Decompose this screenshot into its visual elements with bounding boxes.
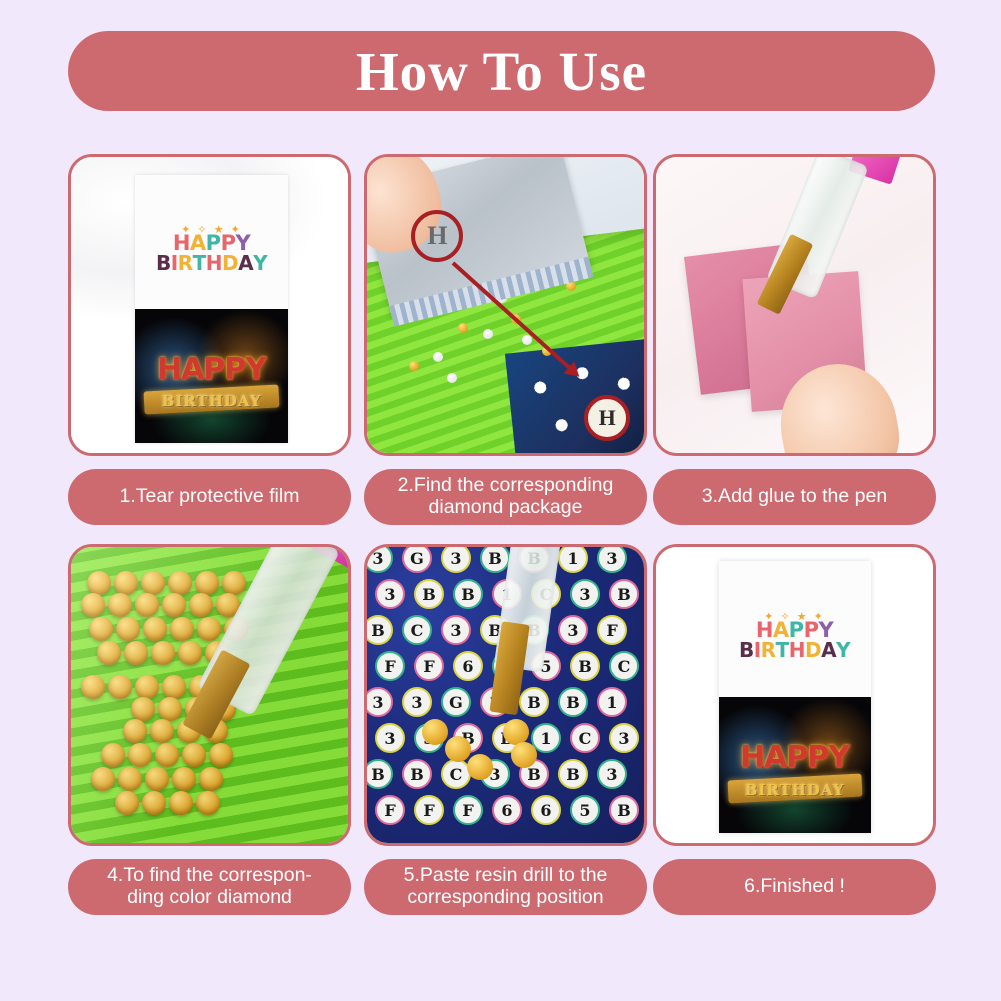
photo-tear-protective-film: ✦ ✧ ★ ✦ HAPPY BIRTHDAY HAPPY BIRTHDA [71, 157, 348, 453]
step-6-caption: 6.Finished ! [653, 859, 936, 915]
step-5-caption: 5.Paste resin drill to the corresponding… [364, 859, 647, 915]
canvas-symbol-cell: 1 [597, 687, 627, 717]
finished-greeting-card: ✦ ✧ ★ ✦ HAPPY BIRTHDAY HAPPY BIRTHDA [719, 561, 871, 833]
gold-drill-bead [178, 641, 202, 665]
gold-drill-bead [212, 697, 236, 721]
canvas-symbol-cell: C [570, 723, 600, 753]
gold-drill-bead [142, 791, 166, 815]
canvas-symbol-cell: F [453, 795, 483, 825]
confetti-icon: ✦ ✧ ★ ✦ [156, 223, 267, 236]
gold-drill-bead [135, 593, 159, 617]
canvas-symbol-cell: B [570, 651, 600, 681]
bead-artwork: HAPPY BIRTHDAY [719, 697, 871, 833]
gold-drill-bead [162, 593, 186, 617]
step-3-photo-frame [653, 154, 936, 456]
canvas-symbol-cell: 3 [367, 547, 393, 573]
gold-drill-bead [216, 593, 240, 617]
greeting-card-with-film: ✦ ✧ ★ ✦ HAPPY BIRTHDAY HAPPY BIRTHDA [135, 175, 288, 443]
canvas-symbol-cell: G [402, 547, 432, 573]
card-top-white: ✦ ✧ ★ ✦ HAPPY BIRTHDAY [719, 561, 871, 697]
gold-drill-bead [116, 617, 140, 641]
gold-drill-bead [189, 675, 213, 699]
card-bottom-diamond-art: HAPPY BIRTHDAY [719, 697, 871, 833]
step-6-photo-frame: ✦ ✧ ★ ✦ HAPPY BIRTHDAY HAPPY BIRTHDA [653, 544, 936, 846]
step-1: ✦ ✧ ★ ✦ HAPPY BIRTHDAY HAPPY BIRTHDA [68, 154, 351, 525]
gold-drill-bead [204, 719, 228, 743]
gold-drill-bead [222, 571, 246, 595]
symbol-canvas [505, 339, 644, 453]
gold-drill-bead [101, 743, 125, 767]
canvas-symbol-cell: B [453, 579, 483, 609]
bead-artwork: HAPPY BIRTHDAY [135, 309, 288, 443]
step-2-caption: 2.Find the corresponding diamond package [364, 469, 647, 525]
gold-drill-bead [224, 617, 248, 641]
canvas-symbol-cell: F [414, 651, 444, 681]
step-4: 4.To find the correspon- ding color diam… [68, 544, 351, 915]
art-happy-text: HAPPY [719, 743, 871, 773]
gold-drill-bead [145, 767, 169, 791]
canvas-symbol-cell: 3 [597, 547, 627, 573]
canvas-symbol-cell: B [414, 579, 444, 609]
placed-drill [422, 719, 448, 745]
gold-drill-bead [81, 675, 105, 699]
step-4-caption: 4.To find the correspon- ding color diam… [68, 859, 351, 915]
canvas-symbol-cell: G [441, 687, 471, 717]
step-1-photo-frame: ✦ ✧ ★ ✦ HAPPY BIRTHDAY HAPPY BIRTHDA [68, 154, 351, 456]
happy-birthday-flat-art: ✦ ✧ ★ ✦ HAPPY BIRTHDAY [156, 223, 267, 274]
confetti-icon: ✦ ✧ ★ ✦ [739, 610, 850, 623]
step-1-caption: 1.Tear protective film [68, 469, 351, 525]
gold-drill-bead [182, 743, 206, 767]
card-birthday-text: BIRTHDAY [739, 641, 850, 660]
gold-drill-bead [87, 571, 111, 595]
canvas-symbol-cell: B [367, 615, 393, 645]
gold-drill-bead [169, 791, 193, 815]
gold-drill-bead [185, 697, 209, 721]
gold-drill-bead [123, 719, 147, 743]
gold-drill-bead [141, 571, 165, 595]
canvas-symbol-cell: F [597, 615, 627, 645]
canvas-symbol-cell: 6 [492, 795, 522, 825]
gold-drill-bead [209, 743, 233, 767]
canvas-symbol-cell: 3 [375, 723, 405, 753]
gold-drill-bead [131, 697, 155, 721]
photo-finished-card: ✦ ✧ ★ ✦ HAPPY BIRTHDAY HAPPY BIRTHDA [656, 547, 933, 843]
gold-drill-bead [108, 593, 132, 617]
canvas-symbol-cell: F [414, 795, 444, 825]
step-2-photo-frame: H H [364, 154, 647, 456]
art-birthday-text: BIRTHDAY [719, 781, 871, 799]
step-5-photo-frame: 3G3BB133BB1C3BBC3BB3FFF665BC33G3BB133BB1… [364, 544, 647, 846]
gold-drill-bead [114, 571, 138, 595]
gold-drill-bead [205, 641, 229, 665]
card-happy-text: HAPPY [739, 621, 850, 641]
gold-drill-bead [128, 743, 152, 767]
happy-birthday-flat-art: ✦ ✧ ★ ✦ HAPPY BIRTHDAY [739, 610, 850, 661]
card-birthday-text: BIRTHDAY [156, 254, 267, 273]
canvas-symbol-cell: 3 [441, 547, 471, 573]
canvas-symbol-cell: B [609, 579, 639, 609]
gold-drill-bead [172, 767, 196, 791]
drill-bead [409, 361, 419, 371]
gold-drill-bead [189, 593, 213, 617]
card-bottom-diamond-art: HAPPY BIRTHDAY [135, 309, 288, 443]
canvas-symbol-cell: 3 [609, 723, 639, 753]
gold-drill-bead [118, 767, 142, 791]
card-top-white: ✦ ✧ ★ ✦ HAPPY BIRTHDAY [135, 175, 288, 309]
step-2: H H 2.Find the corresponding diamond pac… [364, 154, 647, 525]
canvas-symbol-cell: 6 [531, 795, 561, 825]
art-happy-text: HAPPY [135, 355, 288, 385]
gold-drill-bead [197, 617, 221, 641]
gold-drill-bead [195, 571, 219, 595]
gold-drill-bead [89, 617, 113, 641]
gold-drill-bead [199, 767, 223, 791]
canvas-symbol-cell: 3 [402, 687, 432, 717]
canvas-symbol-cell: F [375, 651, 405, 681]
gold-drill-bead [115, 791, 139, 815]
canvas-symbol-cell: C [402, 615, 432, 645]
canvas-symbol-cell: 3 [367, 687, 393, 717]
canvas-symbol-cell: 3 [597, 759, 627, 789]
step-3-caption: 3.Add glue to the pen [653, 469, 936, 525]
canvas-symbol-cell: B [609, 795, 639, 825]
gold-drill-bead [81, 593, 105, 617]
step-5: 3G3BB133BB1C3BBC3BB3FFF665BC33G3BB133BB1… [364, 544, 647, 915]
placed-drill [445, 736, 471, 762]
step-6: ✦ ✧ ★ ✦ HAPPY BIRTHDAY HAPPY BIRTHDA [653, 544, 936, 915]
canvas-symbol-cell: B [367, 759, 393, 789]
gold-drill-bead [162, 675, 186, 699]
step-3: 3.Add glue to the pen [653, 154, 936, 525]
gold-drill-bead [196, 791, 220, 815]
photo-add-glue-to-pen [656, 157, 933, 453]
gold-drill-bead [124, 641, 148, 665]
steps-grid: ✦ ✧ ★ ✦ HAPPY BIRTHDAY HAPPY BIRTHDA [0, 0, 1001, 1001]
photo-paste-resin-drill: 3G3BB133BB1C3BBC3BB3FFF665BC33G3BB133BB1… [367, 547, 644, 843]
pen-body [196, 547, 340, 717]
pen-tip [182, 649, 250, 739]
step-4-photo-frame [68, 544, 351, 846]
drill-bead [483, 329, 493, 339]
diamond-painting-pen [150, 547, 348, 784]
gold-drill-rows [71, 547, 348, 843]
card-happy-text: HAPPY [156, 234, 267, 254]
photo-find-diamond-package: H H [367, 157, 644, 453]
placed-drill [467, 754, 493, 780]
canvas-symbol-cell: B [558, 759, 588, 789]
canvas-symbol-cell: 3 [375, 579, 405, 609]
canvas-symbol-cell: C [609, 651, 639, 681]
canvas-symbol-cell: B [402, 759, 432, 789]
canvas-symbol-cell: 5 [570, 795, 600, 825]
canvas-symbol-cell: F [375, 795, 405, 825]
canvas-symbol-highlight: H [584, 395, 630, 441]
gold-drill-bead [97, 641, 121, 665]
gold-drill-bead [135, 675, 159, 699]
gold-drill-bead [151, 641, 175, 665]
gold-drill-bead [170, 617, 194, 641]
gold-drill-bead [155, 743, 179, 767]
photo-find-color-diamond [71, 547, 348, 843]
gold-drill-bead [150, 719, 174, 743]
gold-drill-bead [91, 767, 115, 791]
art-birthday-text: BIRTHDAY [135, 392, 288, 410]
gold-drill-bead [108, 675, 132, 699]
pen-cap [292, 547, 348, 574]
gold-drill-bead [177, 719, 201, 743]
canvas-symbol-cell: 3 [441, 615, 471, 645]
gold-drill-bead [158, 697, 182, 721]
gold-drill-bead [143, 617, 167, 641]
gold-drill-bead [168, 571, 192, 595]
